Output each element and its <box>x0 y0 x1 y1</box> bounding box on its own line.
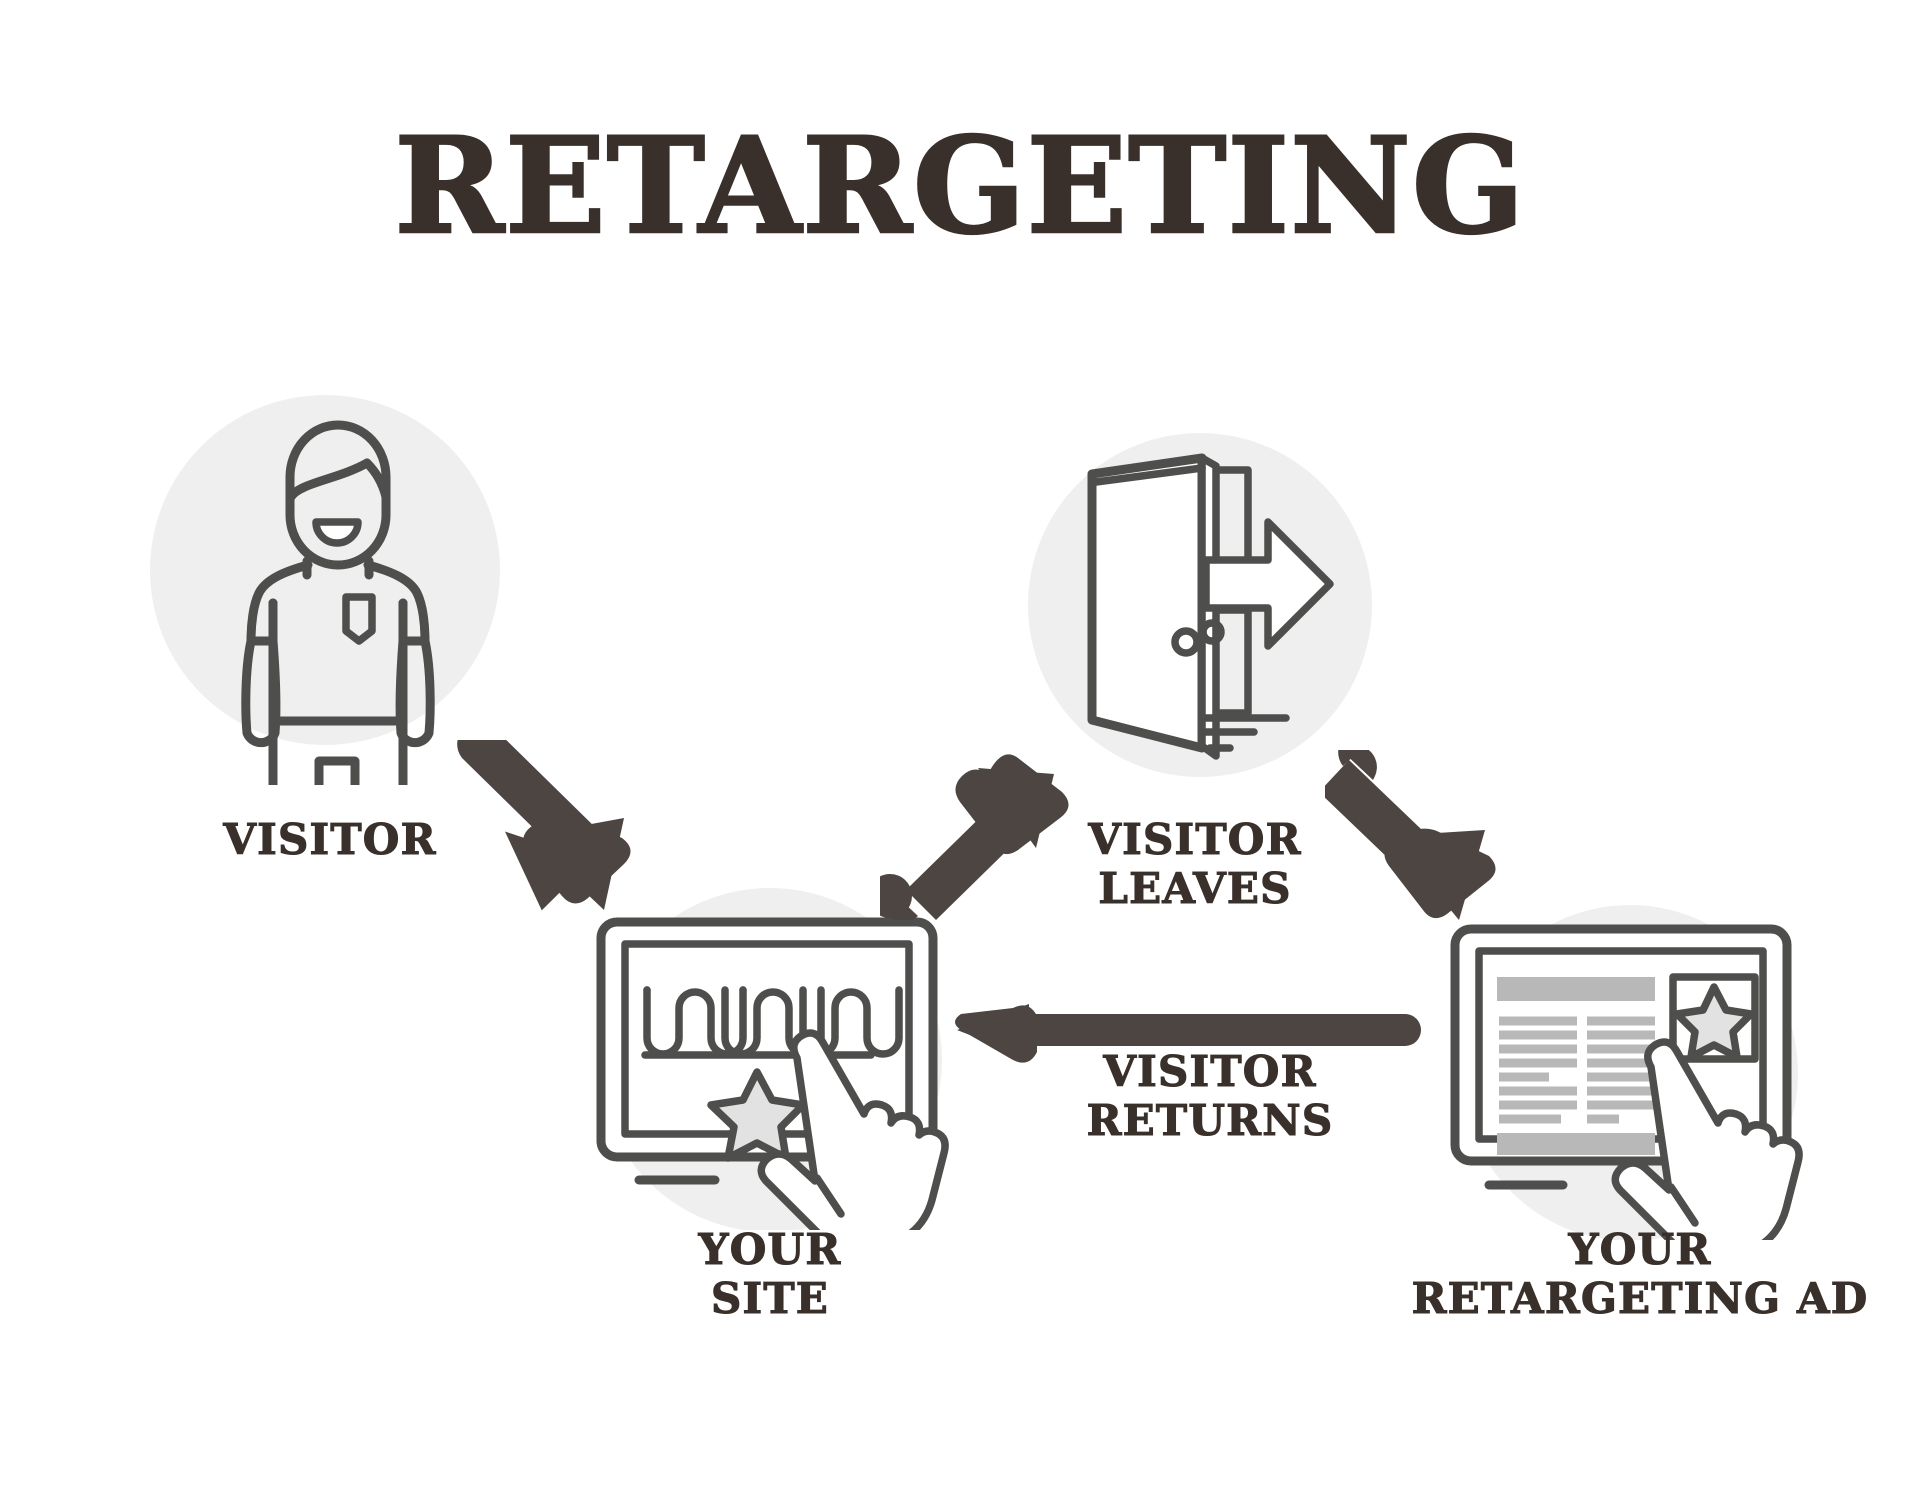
your-site-illustration <box>585 880 955 1230</box>
node-label-your-site: YOUR SITE <box>520 1226 1020 1323</box>
page-title: RETARGETING <box>0 118 1920 257</box>
ad-tablet-pointing-hand-icon <box>1455 929 1799 1240</box>
visitor-circle-bg <box>150 395 500 745</box>
your-retargeting-ad-illustration <box>1445 895 1815 1240</box>
infographic-canvas: RETARGETING <box>0 0 1920 1492</box>
node-label-your-retargeting-ad: YOUR RETARGETING AD <box>1360 1226 1920 1323</box>
node-label-visitor: VISITOR <box>80 816 580 865</box>
node-label-visitor-leaves: VISITOR LEAVES <box>945 816 1445 913</box>
visitor-leaves-illustration <box>1010 420 1390 790</box>
www-tablet-pointing-hand-icon <box>601 922 945 1230</box>
visitor-illustration <box>150 385 520 785</box>
flow-label-visitor-returns: VISITOR RETURNS <box>1000 1048 1420 1145</box>
